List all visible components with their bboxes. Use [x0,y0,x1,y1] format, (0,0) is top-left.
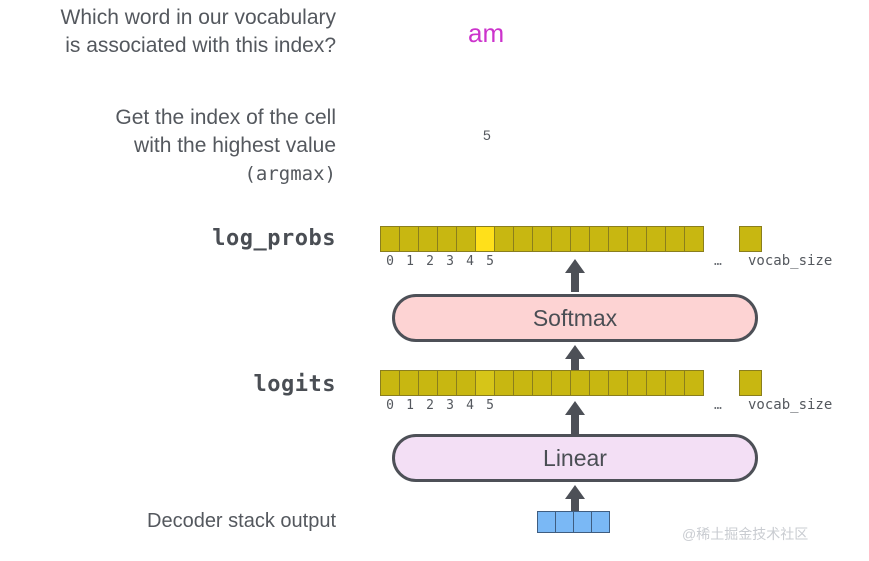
vector-cell [570,226,590,252]
annotation-argmax-line2: with the highest value [0,132,336,160]
vector-cell [589,370,609,396]
vector-cell [646,370,666,396]
vector-cell [665,226,685,252]
vector-cell [456,226,476,252]
vector-tick-label: 5 [480,398,500,413]
logits-cells [380,370,704,396]
row-label-log-probs: log_probs [0,226,336,251]
vector-cell [475,370,495,396]
vector-cell [608,226,628,252]
annotation-vocabulary-question: Which word in our vocabulary is associat… [0,4,336,60]
logits-tick-labels: 012345 [380,398,500,413]
decoder-output-cell [573,511,592,533]
linear-label: Linear [543,445,607,472]
vector-cell [532,370,552,396]
log-probs-cells [380,226,704,252]
logits-ellipsis: … [714,398,722,413]
vector-cell [532,226,552,252]
output-word: am [468,18,504,49]
vector-cell [418,226,438,252]
vector-tick-label: 4 [460,398,480,413]
vector-tick-label: 0 [380,398,400,413]
vector-cell [608,370,628,396]
vector-tick-label: 5 [480,254,500,269]
log-probs-tail-cell [739,226,762,252]
decoder-output-cell [537,511,556,533]
vector-cell [399,370,419,396]
vector-cell [684,226,704,252]
log-probs-vocab-size-label: vocab_size [748,253,832,269]
diagram-canvas: Which word in our vocabulary is associat… [0,0,869,561]
linear-block: Linear [392,434,758,482]
logits-tail-cell [739,370,762,396]
vector-cell [494,226,514,252]
vector-cell [589,226,609,252]
vector-cell [665,370,685,396]
vector-tick-label: 1 [400,398,420,413]
annotation-vocabulary-question-line1: Which word in our vocabulary [0,4,336,32]
log-probs-ellipsis: … [714,254,722,269]
vector-tick-label: 1 [400,254,420,269]
decoder-output-cell [591,511,610,533]
vector-cell [570,370,590,396]
vector-tick-label: 3 [440,398,460,413]
vector-cell [456,370,476,396]
vector-cell [513,370,533,396]
annotation-argmax-line1: Get the index of the cell [0,104,336,132]
decoder-stack-output-cells [537,511,610,537]
watermark: @稀土掘金技术社区 [682,524,808,544]
vector-cell [646,226,666,252]
output-index: 5 [483,127,491,143]
annotation-argmax-mono: (argmax) [0,160,336,188]
softmax-block: Softmax [392,294,758,342]
vector-cell [380,370,400,396]
softmax-label: Softmax [533,305,617,332]
vector-cell [437,370,457,396]
vector-cell [627,226,647,252]
arrow-softmax-to-log-probs [562,258,588,292]
annotation-vocabulary-question-line2: is associated with this index? [0,32,336,60]
vector-cell [380,226,400,252]
vector-cell [551,370,571,396]
log-probs-tick-labels: 012345 [380,254,500,269]
vector-tick-label: 4 [460,254,480,269]
vector-cell [475,226,495,252]
row-label-logits: logits [0,372,336,397]
decoder-stack-output-label: Decoder stack output [0,510,336,533]
vector-cell [684,370,704,396]
vector-cell [513,226,533,252]
vector-tick-label: 2 [420,254,440,269]
vector-cell [399,226,419,252]
logits-vocab-size-label: vocab_size [748,397,832,413]
annotation-argmax: Get the index of the cell with the highe… [0,104,336,188]
arrow-linear-to-logits [562,400,588,434]
decoder-output-cell [555,511,574,533]
vector-tick-label: 0 [380,254,400,269]
vector-cell [437,226,457,252]
vector-tick-label: 3 [440,254,460,269]
vector-cell [551,226,571,252]
vector-cell [627,370,647,396]
vector-cell [418,370,438,396]
vector-cell [494,370,514,396]
vector-tick-label: 2 [420,398,440,413]
